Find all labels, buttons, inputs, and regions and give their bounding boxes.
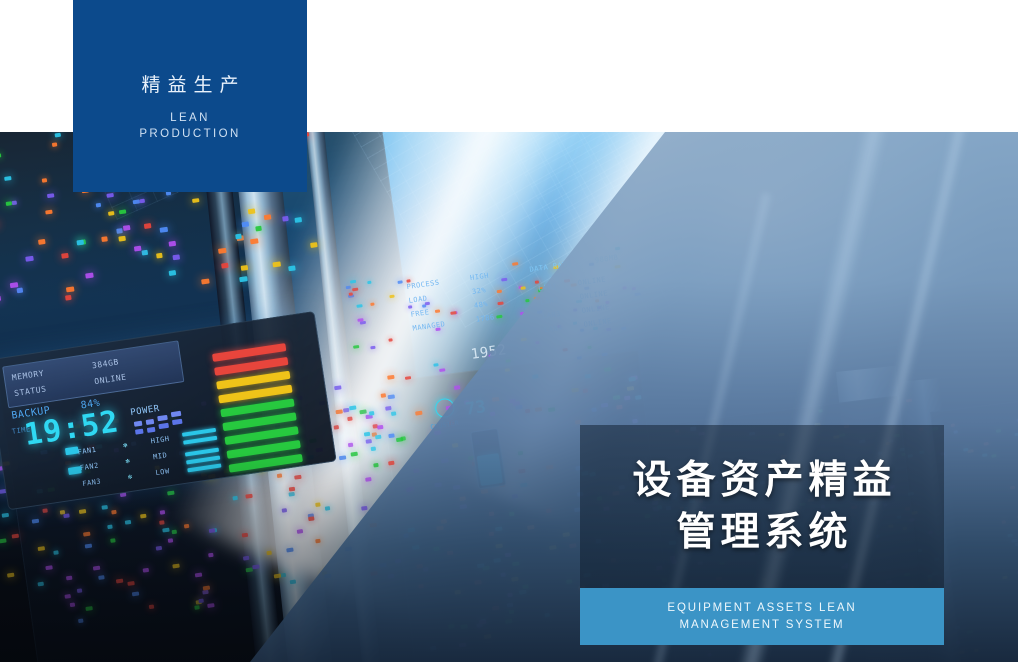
system-title-card: 设备资产精益 管理系统 EQUIPMENT ASSETS LEAN MANAGE… xyxy=(580,425,944,645)
telemetry-row1-label: PROCESS xyxy=(406,279,440,292)
system-title-line1: 设备资产精益 xyxy=(627,455,896,507)
poster-canvas: MEMORY 384GB STATUS ONLINE BACKUP 84% TI… xyxy=(0,0,1018,662)
lean-production-badge: 精益生产 LEAN PRODUCTION xyxy=(73,0,307,192)
system-title-heading: 设备资产精益 管理系统 xyxy=(580,425,944,588)
system-subtitle-line2: MANAGEMENT SYSTEM xyxy=(680,617,845,634)
telemetry-row2-label: LOAD xyxy=(408,294,428,305)
system-subtitle-bar: EQUIPMENT ASSETS LEAN MANAGEMENT SYSTEM xyxy=(580,588,944,645)
brand-title-en-line1: LEAN xyxy=(139,110,240,126)
console-power-label: POWER xyxy=(130,404,161,418)
telemetry-row4-label: MANAGED xyxy=(412,320,446,333)
console-speed-high-label: HIGH xyxy=(150,435,170,446)
telemetry-row4-value: 1786 xyxy=(475,313,495,324)
system-subtitle-line1: EQUIPMENT ASSETS LEAN xyxy=(667,600,856,617)
lcd-memory-label: MEMORY xyxy=(11,369,44,383)
brand-title-en-line2: PRODUCTION xyxy=(139,126,240,142)
telemetry-row3-label: FREE xyxy=(410,308,430,319)
lcd-status-value: ONLINE xyxy=(94,372,127,386)
lcd-status-label: STATUS xyxy=(14,384,47,398)
lcd-memory-value: 384GB xyxy=(91,357,119,370)
telemetry-row1-value: HIGH xyxy=(470,272,490,283)
telemetry-row2-value: 32% xyxy=(472,286,487,296)
brand-title-cn: 精益生产 xyxy=(134,76,245,95)
telemetry-row3-value: 48% xyxy=(473,300,488,310)
brand-title-en: LEAN PRODUCTION xyxy=(139,110,240,142)
system-title-line2: 管理系统 xyxy=(671,507,852,559)
